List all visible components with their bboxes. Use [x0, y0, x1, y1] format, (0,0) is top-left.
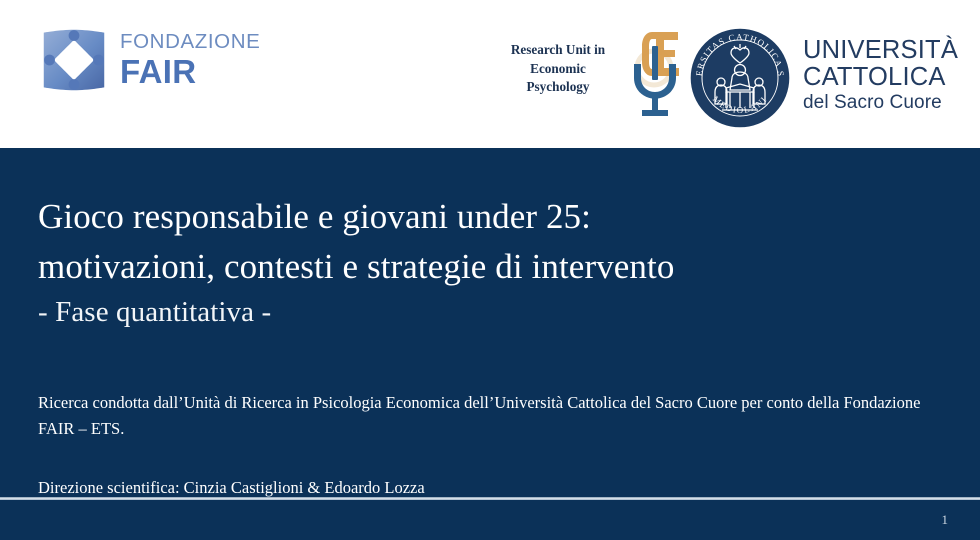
research-unit-line-1: Research Unit in: [492, 41, 624, 60]
page-title-line-2: motivazioni, contesti e strategie di int…: [38, 242, 918, 292]
fair-wordmark: FONDAZIONE FAIR: [120, 32, 260, 89]
fair-word-fair: FAIR: [120, 55, 260, 88]
universita-cattolica-seal-icon: UNIVERSITAS CATHOLICA SACRI MEDIOLANI: [688, 26, 792, 130]
research-unit-label: Research Unit in Economic Psychology: [492, 41, 624, 97]
footer-divider: [0, 497, 980, 500]
uc-wordmark-line-1: UNIVERSITÀ: [803, 38, 958, 64]
uc-wordmark-line-2: CATTOLICA: [803, 65, 958, 91]
page-number: 1: [942, 512, 949, 528]
presentation-slide: FONDAZIONE FAIR Research Unit in Economi…: [0, 0, 980, 540]
page-subtitle: - Fase quantitativa -: [38, 293, 918, 332]
fair-word-fondazione: FONDAZIONE: [120, 32, 260, 53]
research-unit-line-2: Economic: [492, 60, 624, 79]
body-paragraph-research-credit: Ricerca condotta dall’Unità di Ricerca i…: [38, 390, 924, 441]
uc-wordmark-line-3: del Sacro Cuore: [803, 93, 958, 112]
research-unit-line-3: Psychology: [492, 78, 624, 97]
page-title-line-1: Gioco responsabile e giovani under 25:: [38, 192, 918, 242]
slide-body-text: Ricerca condotta dall’Unità di Ricerca i…: [38, 390, 924, 501]
psi-economic-psychology-icon: [626, 24, 688, 120]
fondazione-fair-logo: FONDAZIONE FAIR: [38, 24, 260, 96]
slide-header: FONDAZIONE FAIR Research Unit in Economi…: [0, 0, 980, 148]
slide-title-block: Gioco responsabile e giovani under 25: m…: [38, 192, 918, 333]
universita-cattolica-wordmark: UNIVERSITÀ CATTOLICA del Sacro Cuore: [803, 38, 958, 112]
slide-body: Gioco responsabile e giovani under 25: m…: [0, 148, 980, 540]
fair-four-people-square-icon: [38, 24, 110, 96]
